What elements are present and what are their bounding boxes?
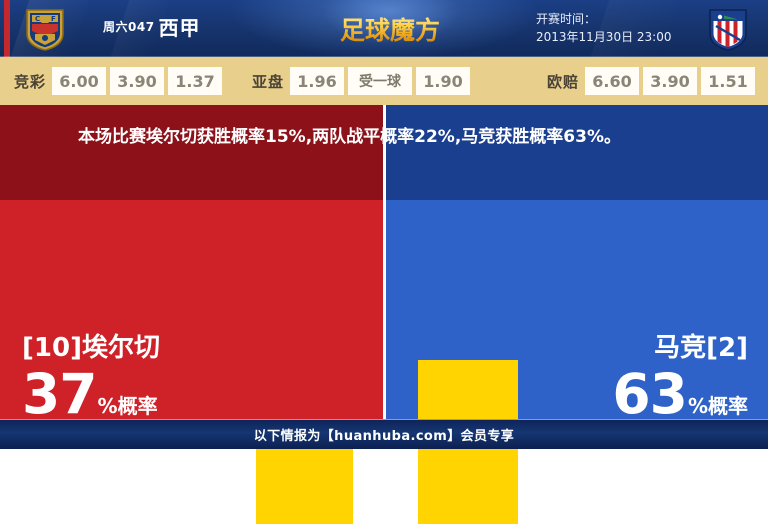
odds-cell-away[interactable]: 1.37 bbox=[168, 67, 222, 95]
league-info: 周六047西甲 bbox=[103, 12, 201, 41]
home-percent-suffix: %概率 bbox=[98, 394, 158, 418]
away-percent-value: 63 bbox=[612, 362, 687, 426]
kickoff-label: 开赛时间： bbox=[536, 10, 671, 28]
european-cell-draw[interactable]: 3.90 bbox=[643, 67, 697, 95]
header-accent-stripe bbox=[4, 0, 10, 57]
header-bar: C F 周六047西甲 足球魔方 开赛时间： 2013年11月30日 23:00 bbox=[0, 0, 768, 57]
home-team-name: [10]埃尔切 bbox=[22, 333, 252, 363]
kickoff-value: 2013年11月30日 23:00 bbox=[536, 28, 671, 46]
european-cell-away[interactable]: 1.51 bbox=[701, 67, 755, 95]
elche-cf-crest-icon: C F bbox=[24, 7, 66, 51]
footer-top-divider bbox=[0, 419, 768, 420]
footer-notice: 以下情报为【huanhuba.com】会员专享 bbox=[254, 425, 514, 444]
odds-group-label: 欧赔 bbox=[547, 71, 579, 92]
odds-cell-home[interactable]: 6.00 bbox=[52, 67, 106, 95]
away-percent-row: 63%概率 bbox=[516, 367, 748, 422]
brand-logo: 足球魔方 bbox=[330, 8, 450, 50]
round-label: 周六047 bbox=[103, 20, 155, 34]
odds-group-european: 欧赔 6.60 3.90 1.51 bbox=[547, 57, 759, 105]
probability-chart-area: 本场比赛埃尔切获胜概率15%,两队战平概率22%,马竞获胜概率63%。 [10]… bbox=[0, 105, 768, 419]
svg-text:C: C bbox=[35, 15, 40, 23]
odds-bar: 竞彩 6.00 3.90 1.37 亚盘 1.96 受一球 1.90 欧赔 6.… bbox=[0, 57, 768, 105]
european-cell-home[interactable]: 6.60 bbox=[585, 67, 639, 95]
svg-text:F: F bbox=[51, 15, 56, 23]
summary-band-left bbox=[0, 105, 385, 200]
atletico-madrid-crest-icon bbox=[707, 7, 749, 51]
probability-summary-text: 本场比赛埃尔切获胜概率15%,两队战平概率22%,马竞获胜概率63%。 bbox=[78, 124, 698, 151]
away-team-name: 马竞[2] bbox=[516, 333, 748, 363]
away-percent-suffix: %概率 bbox=[688, 394, 748, 418]
handicap-cell-line[interactable]: 受一球 bbox=[348, 67, 412, 95]
kickoff-info: 开赛时间： 2013年11月30日 23:00 bbox=[536, 10, 671, 46]
home-percent-row: 37%概率 bbox=[22, 367, 252, 422]
match-probability-infographic: C F 周六047西甲 足球魔方 开赛时间： 2013年11月30日 23:00 bbox=[0, 0, 768, 449]
handicap-cell-home[interactable]: 1.96 bbox=[290, 67, 344, 95]
odds-group-label: 竞彩 bbox=[14, 71, 46, 92]
odds-group-label: 亚盘 bbox=[252, 71, 284, 92]
footer-bar: 以下情报为【huanhuba.com】会员专享 bbox=[0, 419, 768, 449]
odds-group-jingcai: 竞彩 6.00 3.90 1.37 bbox=[14, 57, 226, 105]
panel-divider bbox=[383, 105, 386, 419]
summary-band-right bbox=[385, 105, 768, 200]
home-percent-value: 37 bbox=[22, 362, 97, 426]
odds-group-asian-handicap: 亚盘 1.96 受一球 1.90 bbox=[252, 57, 474, 105]
odds-cell-draw[interactable]: 3.90 bbox=[110, 67, 164, 95]
league-name: 西甲 bbox=[159, 16, 201, 40]
handicap-cell-away[interactable]: 1.90 bbox=[416, 67, 470, 95]
